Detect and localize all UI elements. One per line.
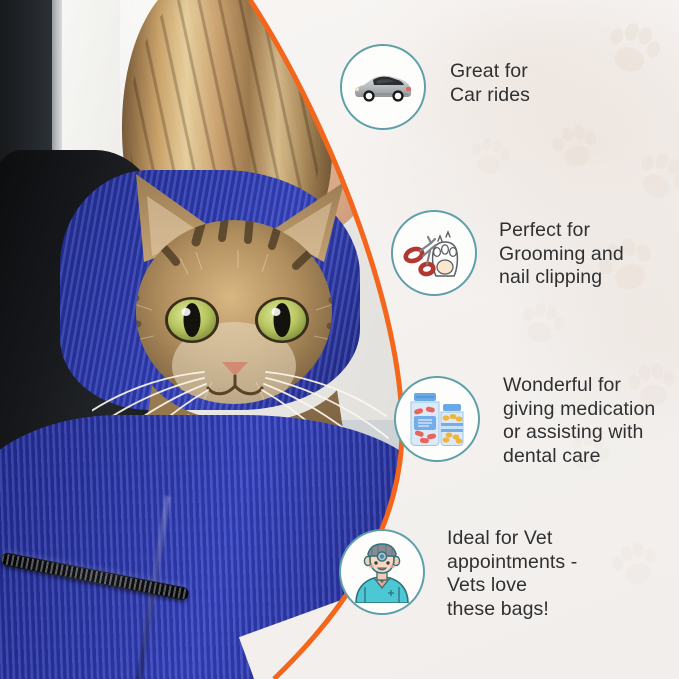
cat-eye-left	[165, 297, 219, 343]
medicine-bottles-icon	[405, 390, 469, 448]
car-icon-circle	[340, 44, 426, 130]
grooming-icon-circle	[391, 210, 477, 296]
feature-label-grooming: Perfect for Grooming and nail clipping	[499, 219, 624, 290]
car-icon	[352, 70, 414, 104]
feature-label-medication: Wonderful for giving medication or assis…	[503, 374, 655, 468]
feature-label-vet: Ideal for Vet appointments - Vets love t…	[447, 527, 577, 621]
nail-clippers-paw-icon	[403, 226, 465, 280]
feature-row-grooming: Perfect for Grooming and nail clipping	[391, 210, 624, 296]
product-infographic: Great for Car rides	[0, 0, 679, 679]
feature-row-vet: Ideal for Vet appointments - Vets love t…	[339, 529, 577, 621]
vet-icon-circle	[339, 529, 425, 615]
feature-row-medication: Wonderful for giving medication or assis…	[394, 376, 655, 468]
feature-label-car-rides: Great for Car rides	[450, 60, 530, 107]
feature-row-car-rides: Great for Car rides	[340, 44, 530, 130]
veterinarian-icon	[352, 541, 412, 603]
medication-icon-circle	[394, 376, 480, 462]
cat-eye-right	[255, 297, 309, 343]
